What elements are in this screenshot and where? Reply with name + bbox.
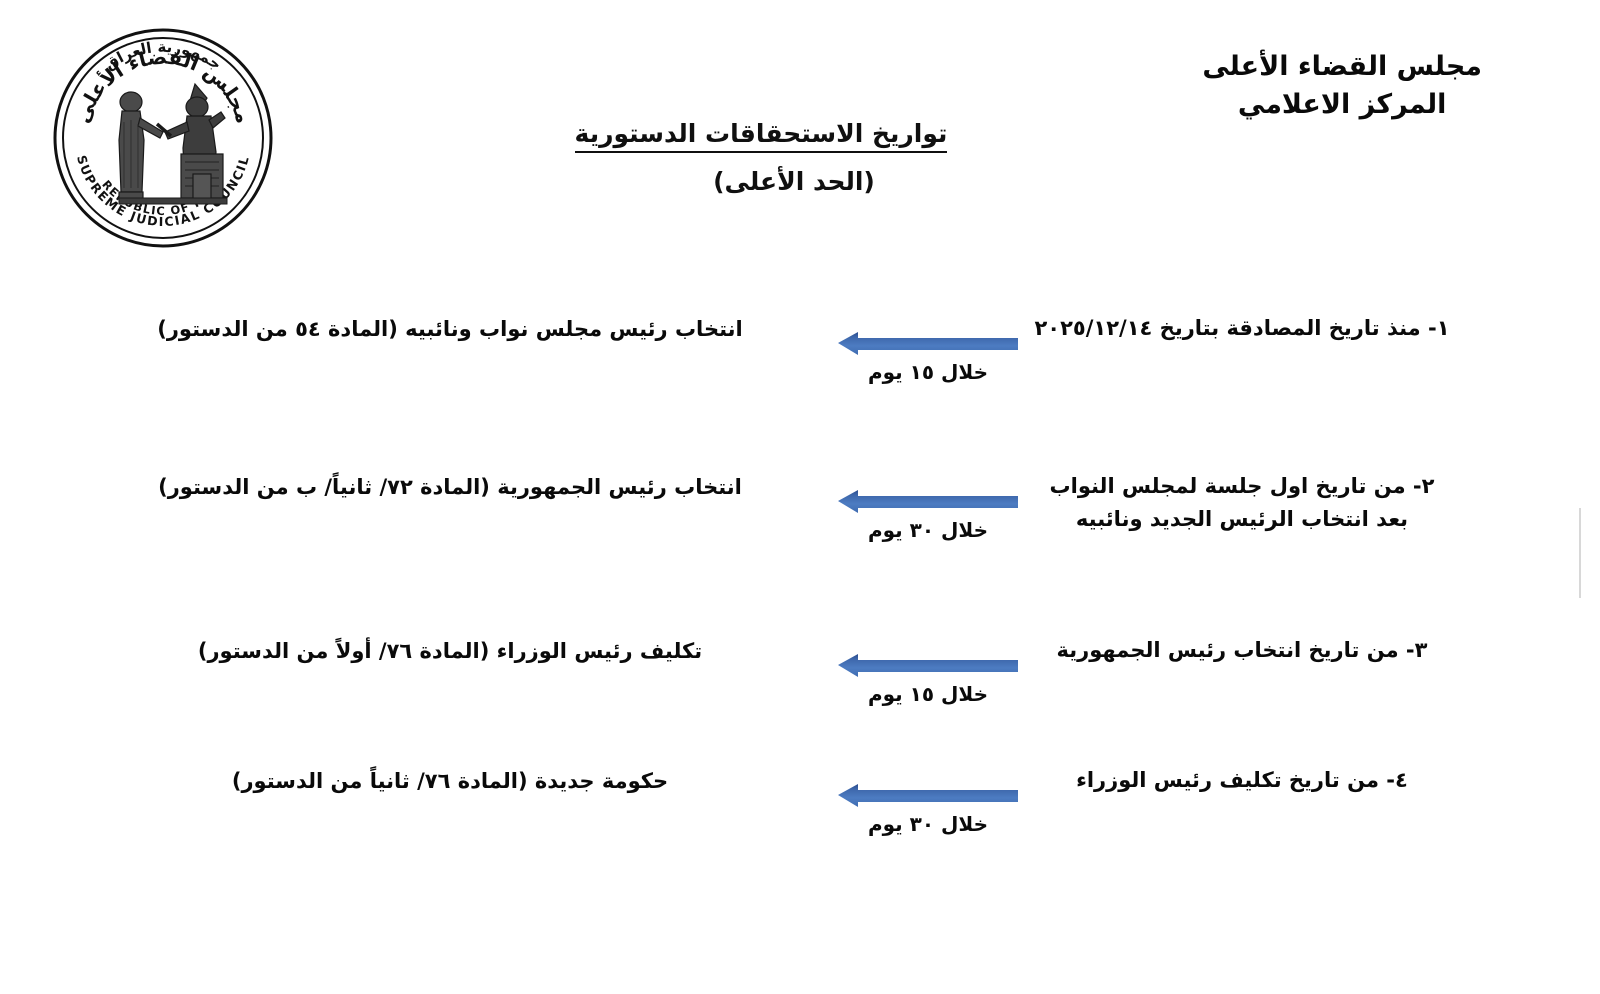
left-arrow-icon — [838, 488, 1018, 514]
duration-label: خلال ١٥ يوم — [838, 360, 1018, 384]
duration-label: خلال ٣٠ يوم — [838, 518, 1018, 542]
org-name: مجلس القضاء الأعلى — [1202, 48, 1482, 86]
duration-arrow-group: خلال ٣٠ يوم — [838, 768, 1018, 838]
timeline-row: ١- منذ تاريخ المصادقة بتاريخ ٢٠٢٥/١٢/١٤ — [0, 296, 1600, 446]
row-source-event: ٤- من تاريخ تكليف رئيس الوزراء — [1002, 764, 1482, 797]
duration-arrow-group: خلال ٣٠ يوم — [838, 474, 1018, 544]
row-source-line: ٤- من تاريخ تكليف رئيس الوزراء — [1002, 764, 1482, 797]
row-source-line: ٢- من تاريخ اول جلسة لمجلس النواب — [1002, 470, 1482, 503]
row-source-event: ٢- من تاريخ اول جلسة لمجلس النواب بعد ان… — [1002, 470, 1482, 535]
row-source-line: ١- منذ تاريخ المصادقة بتاريخ ٢٠٢٥/١٢/١٤ — [1002, 312, 1482, 345]
timeline-rows: ١- منذ تاريخ المصادقة بتاريخ ٢٠٢٥/١٢/١٤ — [0, 296, 1600, 916]
left-arrow-icon — [838, 330, 1018, 356]
duration-arrow-group: خلال ١٥ يوم — [838, 638, 1018, 708]
row-target-milestone: انتخاب رئيس مجلس نواب ونائبيه (المادة ٥٤… — [140, 314, 760, 346]
row-target-milestone: تكليف رئيس الوزراء (المادة ٧٦/ أولاً من … — [140, 636, 760, 668]
row-source-event: ١- منذ تاريخ المصادقة بتاريخ ٢٠٢٥/١٢/١٤ — [1002, 312, 1482, 345]
svg-text:مجلس القضاء الأعلى: مجلس القضاء الأعلى — [70, 45, 256, 127]
row-source-line: بعد انتخاب الرئيس الجديد ونائبيه — [1002, 503, 1482, 536]
row-source-line: ٣- من تاريخ انتخاب رئيس الجمهورية — [1002, 634, 1482, 667]
document-page: جمهورية العراق مجلس القضاء الأعلى SUPREM… — [0, 0, 1600, 994]
left-arrow-icon — [838, 652, 1018, 678]
organization-header: مجلس القضاء الأعلى المركز الاعلامي — [1202, 48, 1482, 125]
row-target-milestone: حكومة جديدة (المادة ٧٦/ ثانياً من الدستو… — [140, 766, 760, 798]
timeline-row: ٢- من تاريخ اول جلسة لمجلس النواب بعد ان… — [0, 454, 1600, 604]
timeline-row: ٣- من تاريخ انتخاب رئيس الجمهورية — [0, 618, 1600, 768]
duration-arrow-group: خلال ١٥ يوم — [838, 316, 1018, 386]
duration-label: خلال ٣٠ يوم — [838, 812, 1018, 836]
left-arrow-icon — [838, 782, 1018, 808]
org-department: المركز الاعلامي — [1202, 86, 1482, 124]
timeline-row: ٤- من تاريخ تكليف رئيس الوزراء — [0, 748, 1600, 898]
supreme-judicial-council-emblem: جمهورية العراق مجلس القضاء الأعلى SUPREM… — [45, 12, 280, 257]
duration-label: خلال ١٥ يوم — [838, 682, 1018, 706]
row-target-milestone: انتخاب رئيس الجمهورية (المادة ٧٢/ ثانياً… — [140, 472, 760, 504]
page-title: تواريخ الاستحقاقات الدستورية — [575, 118, 948, 153]
scan-artifact-line — [1579, 508, 1581, 598]
row-source-event: ٣- من تاريخ انتخاب رئيس الجمهورية — [1002, 634, 1482, 667]
